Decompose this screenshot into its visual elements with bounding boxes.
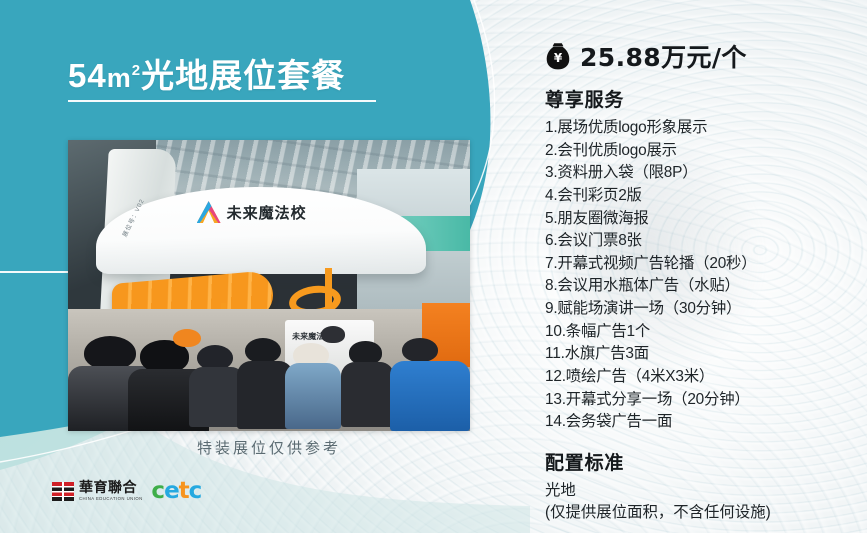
service-item: 12.喷绘广告（4米X3米）: [545, 366, 857, 389]
union-bars-icon: [52, 482, 74, 501]
photo-person-head: [245, 338, 281, 364]
title-block: 54m2光地展位套餐: [68, 58, 448, 102]
price-row: ¥ 25.88万元/个: [545, 38, 857, 74]
service-item: 9.赋能场演讲一场（30分钟）: [545, 298, 857, 321]
photo-caption: 特装展位仅供参考: [68, 437, 470, 458]
photo-visitor-crowd: [68, 315, 470, 431]
photo-booth-branding: 未来魔法校: [197, 201, 307, 223]
union-logo-text: 華育聯合 CHINA EDUCATION UNION: [79, 481, 141, 501]
service-item: 8.会议用水瓶体广告（水贴）: [545, 275, 857, 298]
service-item: 10.条幅广告1个: [545, 321, 857, 344]
services-heading: 尊享服务: [545, 85, 857, 112]
service-item: 3.资料册入袋（限8P）: [545, 162, 857, 185]
config-heading: 配置标准: [545, 448, 857, 475]
photo-person-head: [321, 326, 345, 342]
service-item: 7.开幕式视频广告轮播（20秒）: [545, 253, 857, 276]
service-item: 1.展场优质logo形象展示: [545, 117, 857, 140]
union-logo-cn: 華育聯合: [79, 481, 141, 495]
service-item: 13.开幕式分享一场（20分钟）: [545, 389, 857, 412]
photo-person-body: [341, 362, 393, 427]
service-item: 11.水旗广告3面: [545, 343, 857, 366]
title-underline: [68, 100, 376, 102]
photo-person-body: [390, 361, 470, 431]
config-line-2: (仅提供展位面积，不含任何设施): [545, 502, 857, 524]
config-block: 配置标准 光地 (仅提供展位面积，不含任何设施): [545, 448, 857, 524]
poster-canvas: 54m2光地展位套餐 金位 展位号：V02 未来魔法校 未来魔法校: [0, 0, 867, 533]
union-logo-en: CHINA EDUCATION UNION: [79, 497, 143, 501]
svg-text:¥: ¥: [554, 51, 563, 65]
service-item: 4.会刊彩页2版: [545, 185, 857, 208]
title-unit: m: [107, 63, 132, 93]
booth-brand-name: 未来魔法校: [227, 202, 307, 223]
cetc-letter-4: c: [189, 478, 202, 504]
cetc-letter-2: e: [164, 478, 179, 504]
photo-person-head: [402, 338, 438, 362]
service-item: 2.会刊优质logo展示: [545, 140, 857, 163]
service-item: 14.会务袋广告一面: [545, 411, 857, 434]
booth-photo: 金位 展位号：V02 未来魔法校 未来魔法校: [68, 140, 470, 431]
title-rest: 光地展位套餐: [141, 57, 345, 94]
logo-cetc: cetc: [151, 480, 201, 503]
photo-person-body: [285, 363, 341, 428]
page-title: 54m2光地展位套餐: [68, 58, 448, 95]
config-line-1: 光地: [545, 480, 857, 502]
logo-china-education-union: 華育聯合 CHINA EDUCATION UNION: [52, 481, 141, 501]
cetc-letter-1: c: [151, 478, 164, 504]
money-bag-icon: ¥: [545, 42, 571, 70]
details-column: ¥ 25.88万元/个 尊享服务 1.展场优质logo形象展示 2.会刊优质lo…: [545, 38, 857, 524]
title-unit-superscript: 2: [132, 62, 141, 79]
price-value: 25.88万元/个: [580, 38, 747, 74]
footer-logos: 華育聯合 CHINA EDUCATION UNION cetc: [52, 480, 201, 503]
service-item: 5.朋友圈微海报: [545, 208, 857, 231]
cetc-letter-3: t: [179, 478, 189, 504]
photo-person-head: [349, 341, 381, 364]
photo-person-head: [173, 329, 201, 348]
service-item: 6.会议门票8张: [545, 230, 857, 253]
booth-logo-mark-icon: [197, 201, 221, 223]
services-list: 1.展场优质logo形象展示 2.会刊优质logo展示 3.资料册入袋（限8P）…: [545, 117, 857, 434]
title-area-value: 54: [68, 57, 107, 94]
